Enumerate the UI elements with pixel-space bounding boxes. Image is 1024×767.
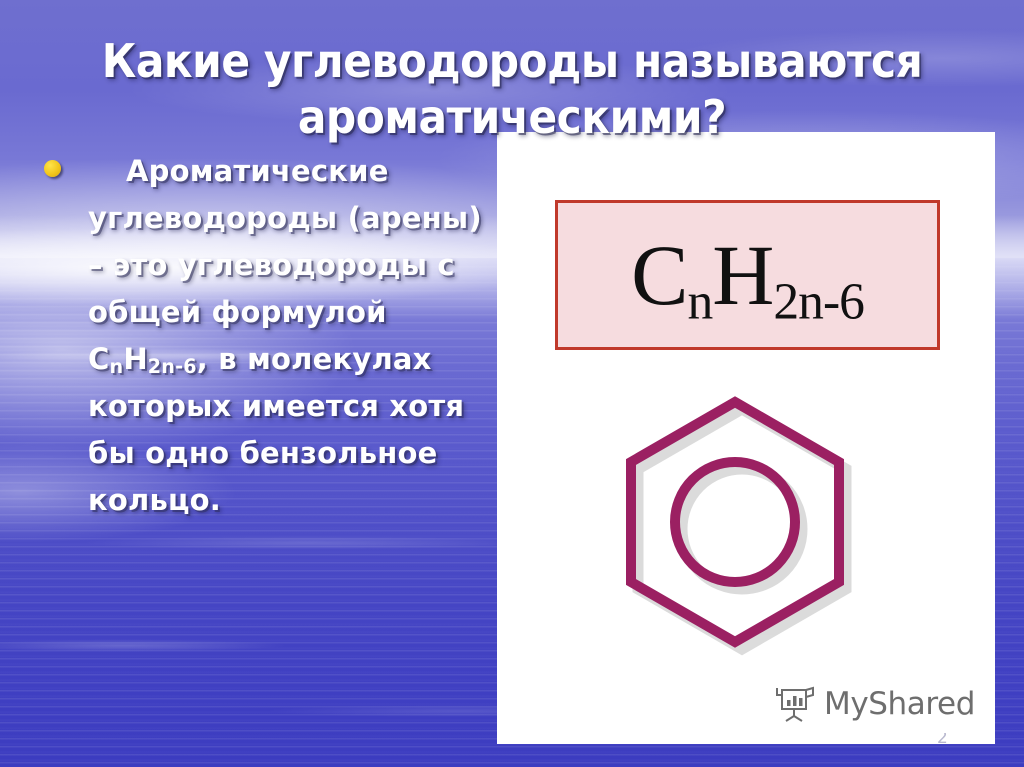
formula-hydrogen-symbol: H	[712, 227, 773, 323]
myshared-watermark: MyShared	[776, 686, 975, 722]
body-subscript-n: n	[109, 355, 123, 378]
page-number: 2	[937, 733, 951, 744]
general-formula-text: CnH2n-6	[631, 232, 864, 318]
formula-subscript-n: n	[687, 273, 712, 330]
formula-carbon-symbol: C	[631, 227, 687, 323]
body-subscript-2n6: 2n-6	[148, 355, 197, 378]
benzene-ring-diagram	[615, 394, 875, 694]
body-text-part-2: H	[123, 342, 147, 376]
slide-canvas: Какие углеводороды называются ароматичес…	[0, 0, 1024, 767]
gold-bullet-icon	[44, 160, 61, 177]
myshared-easel-chart-icon	[776, 686, 816, 722]
body-paragraph: Ароматические углеводороды (арены) – это…	[30, 148, 490, 524]
benzene-aromatic-circle	[675, 462, 795, 582]
benzene-ring-svg	[615, 394, 875, 694]
slide-title: Какие углеводороды называются ароматичес…	[41, 33, 983, 145]
formula-subscript-2n6: 2n-6	[773, 273, 864, 330]
general-formula-box: CnH2n-6	[555, 200, 940, 350]
myshared-watermark-label: MyShared	[824, 686, 975, 722]
illustration-panel: CnH2n-6 2	[497, 132, 995, 744]
body-bullet-block: Ароматические углеводороды (арены) – это…	[30, 148, 490, 524]
